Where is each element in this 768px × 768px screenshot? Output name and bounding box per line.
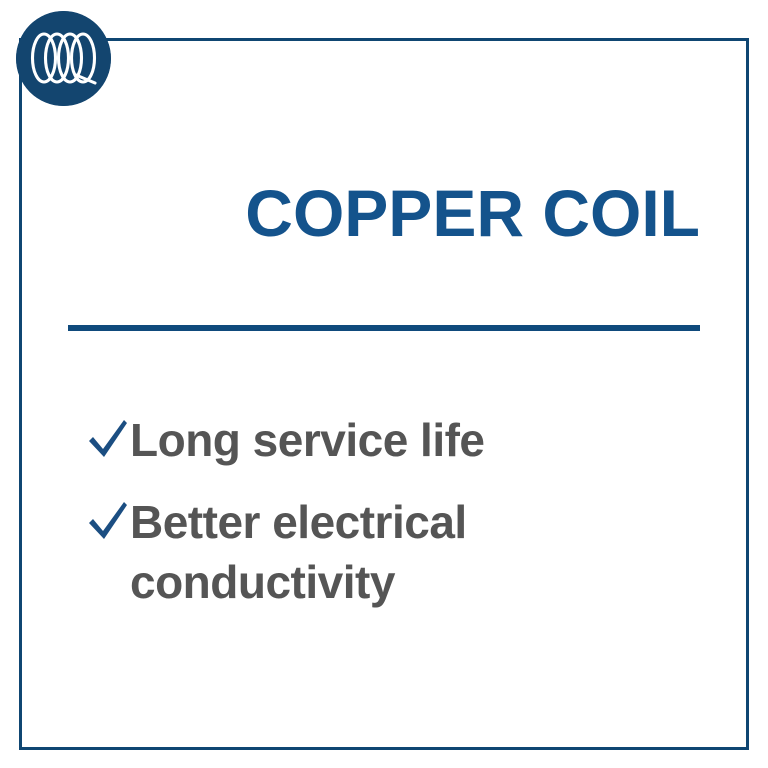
check-icon xyxy=(86,496,130,548)
check-icon xyxy=(86,414,130,466)
page-title: COPPER COIL xyxy=(60,176,700,250)
list-item-label: Long service life xyxy=(130,410,560,470)
title-divider xyxy=(68,325,700,331)
coil-spring-logo-icon xyxy=(16,11,111,106)
slide-canvas: COPPER COIL Long service life Better ele… xyxy=(0,0,768,768)
list-item: Better electrical conductivity xyxy=(86,492,706,612)
list-item-label: Better electrical conductivity xyxy=(130,492,560,612)
card-frame xyxy=(19,38,749,750)
feature-list: Long service life Better electrical cond… xyxy=(86,410,706,634)
list-item: Long service life xyxy=(86,410,706,470)
